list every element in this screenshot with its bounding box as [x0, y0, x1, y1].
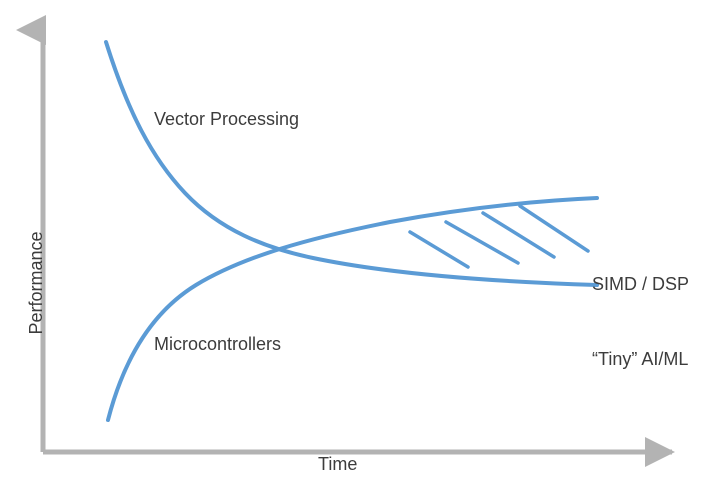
chart-container: Performance Time Vector Processing Micro… [0, 0, 719, 504]
y-axis-label: Performance [25, 213, 47, 353]
x-axis-label: Time [318, 453, 357, 475]
annotation-tiny-ai-ml: “Tiny” AI/ML [592, 347, 689, 372]
annotation-microcontrollers: Microcontrollers [154, 333, 281, 355]
curve-vector-processing [106, 42, 597, 285]
annotation-vector-processing: Vector Processing [154, 108, 299, 130]
annotation-simd-group: SIMD / DSP “Tiny” AI/ML [592, 222, 689, 422]
hatch-line [410, 232, 468, 267]
curve-microcontrollers [108, 198, 597, 420]
annotation-simd-dsp: SIMD / DSP [592, 272, 689, 297]
